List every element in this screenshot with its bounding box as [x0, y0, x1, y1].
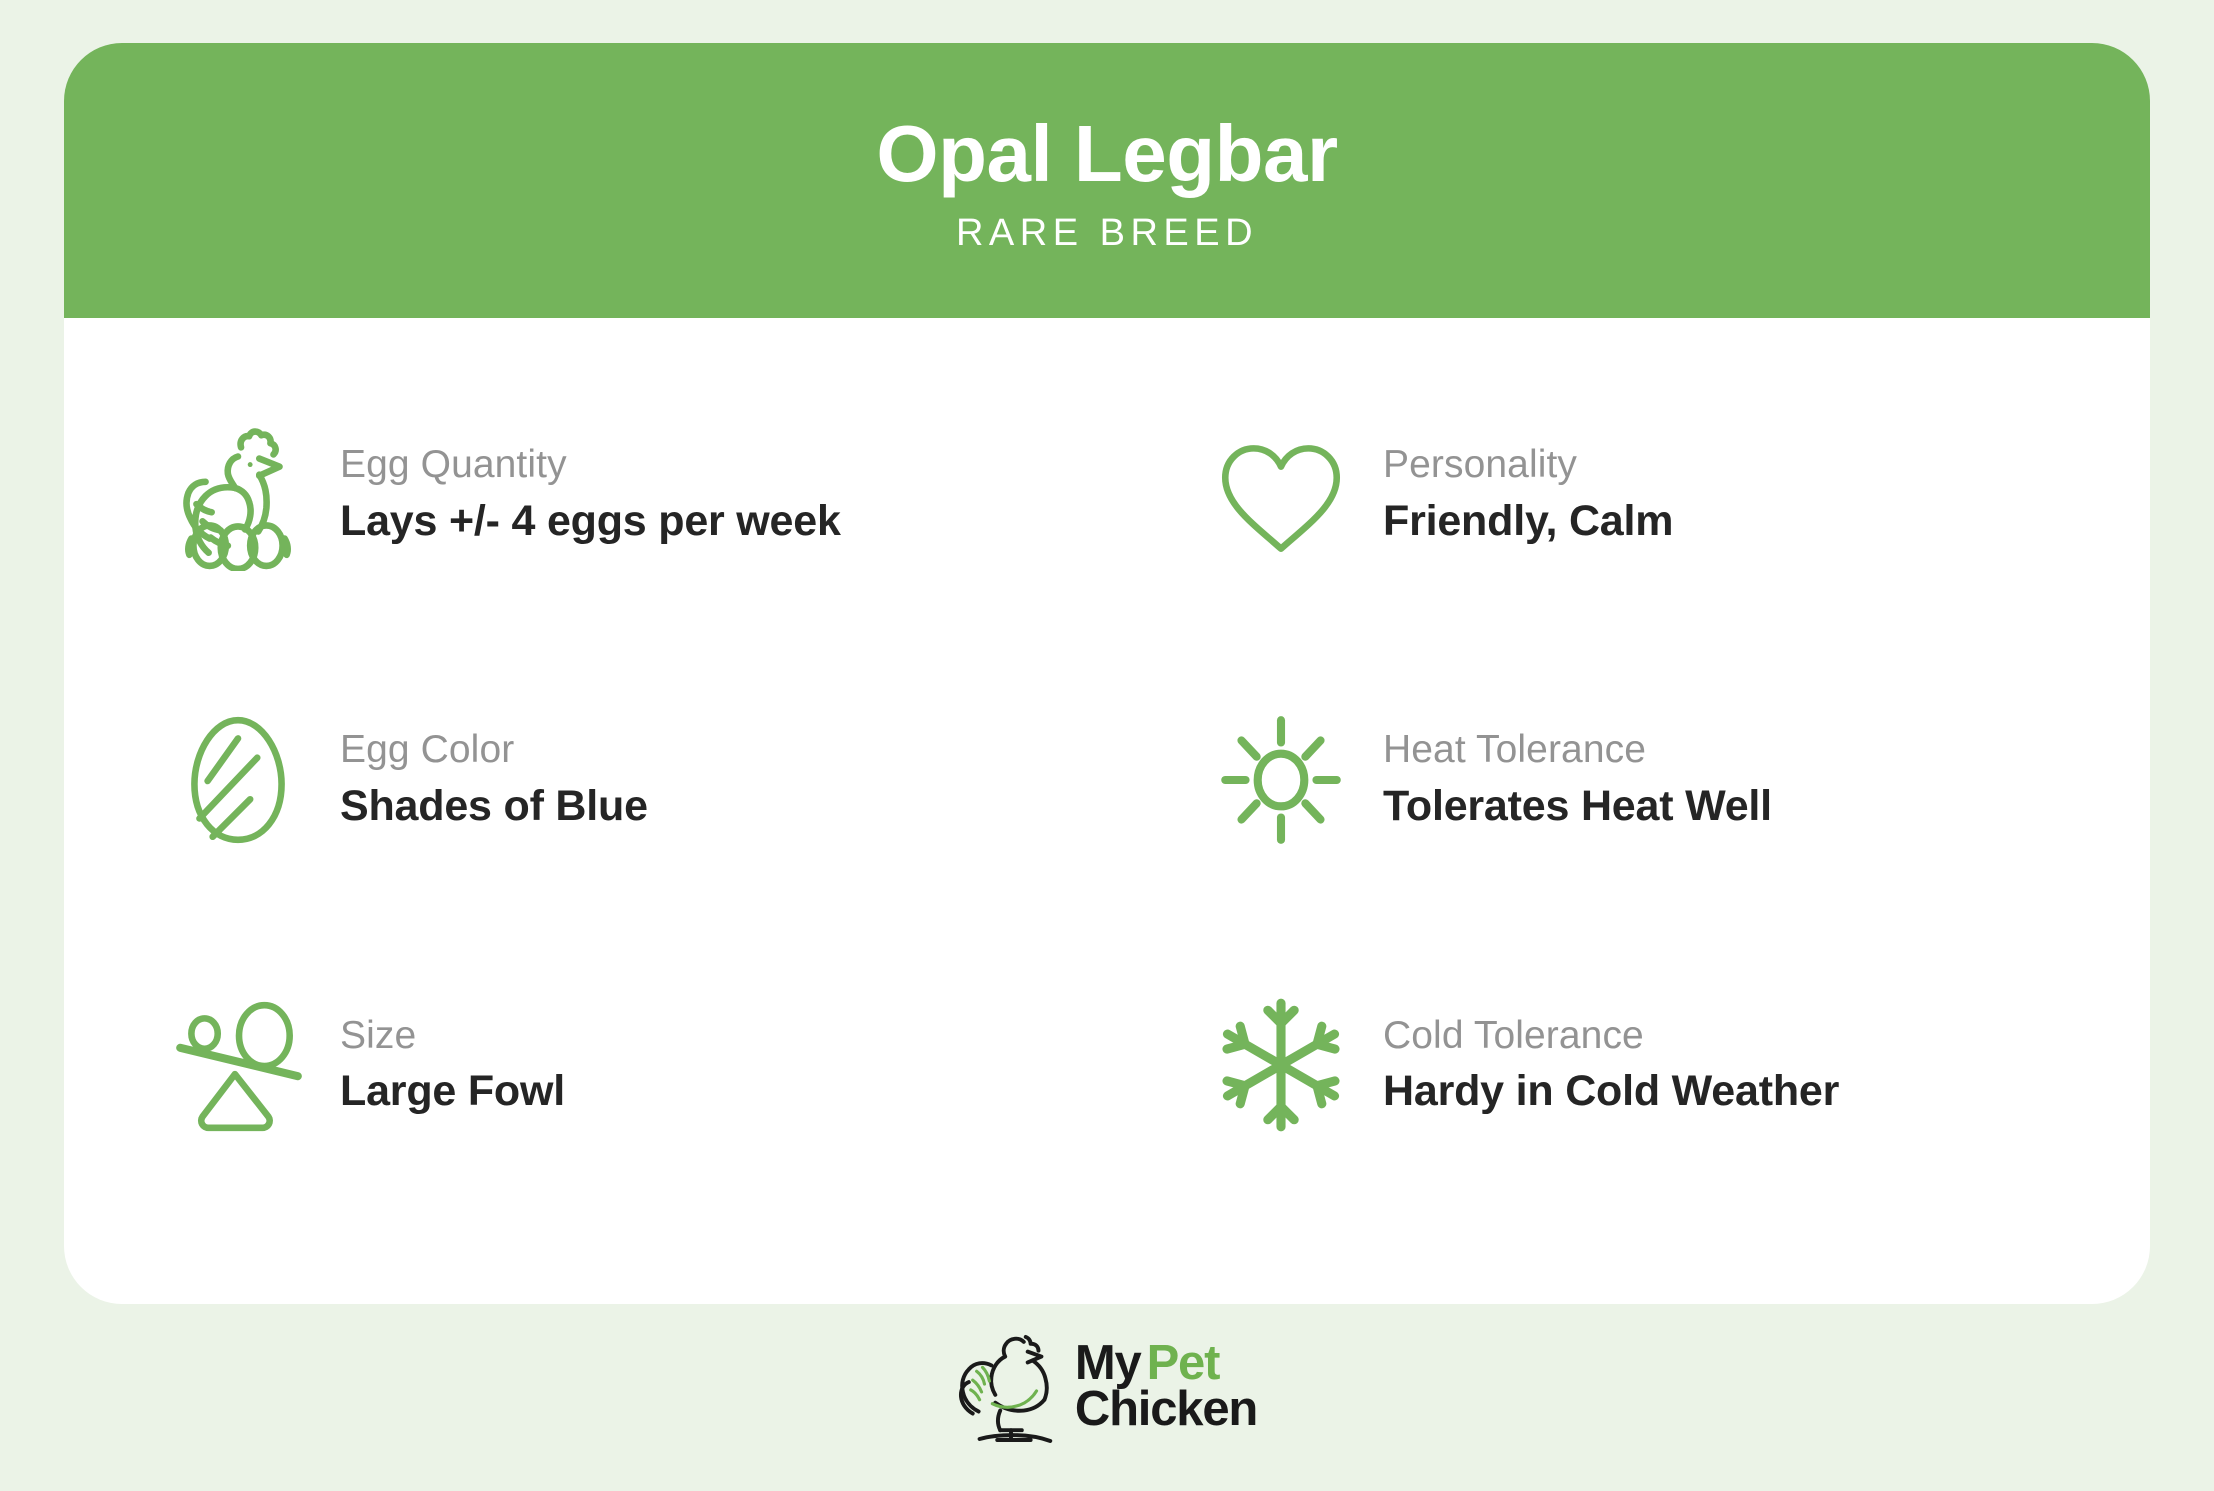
breed-info-card: Opal Legbar RARE BREED: [64, 43, 2150, 1304]
attribute-label: Heat Tolerance: [1383, 726, 1772, 774]
sun-icon: [1201, 700, 1361, 860]
attribute-text: Personality Friendly, Calm: [1383, 441, 1673, 548]
attribute-text: Size Large Fowl: [340, 1012, 565, 1119]
my-pet-chicken-logo: MyPet Chicken: [957, 1328, 1257, 1446]
attribute-heat-tolerance: Heat Tolerance Tolerates Heat Well: [1107, 637, 2150, 922]
attribute-cold-tolerance: Cold Tolerance Hardy in Cold Weather: [1107, 923, 2150, 1208]
attribute-value: Tolerates Heat Well: [1383, 780, 1772, 834]
attribute-value: Friendly, Calm: [1383, 495, 1673, 549]
card-header: Opal Legbar RARE BREED: [64, 43, 2150, 318]
snowflake-icon: [1201, 985, 1361, 1145]
attribute-label: Cold Tolerance: [1383, 1012, 1839, 1060]
attribute-egg-quantity: Egg Quantity Lays +/- 4 eggs per week: [64, 352, 1107, 637]
footer: MyPet Chicken: [0, 1328, 2214, 1446]
breed-rarity-subtitle: RARE BREED: [956, 212, 1258, 255]
attribute-label: Size: [340, 1012, 565, 1060]
attribute-text: Egg Quantity Lays +/- 4 eggs per week: [340, 441, 841, 548]
attribute-value: Lays +/- 4 eggs per week: [340, 495, 841, 549]
attribute-label: Egg Color: [340, 726, 648, 774]
heart-icon: [1201, 415, 1361, 575]
attribute-text: Cold Tolerance Hardy in Cold Weather: [1383, 1012, 1839, 1119]
balance-scale-icon: [158, 985, 318, 1145]
attributes-grid: Egg Quantity Lays +/- 4 eggs per week Pe…: [64, 318, 2150, 1304]
egg-icon: [158, 700, 318, 860]
logo-word-chicken: Chicken: [1075, 1387, 1257, 1433]
attribute-value: Shades of Blue: [340, 780, 648, 834]
logo-wordmark: MyPet Chicken: [1075, 1341, 1257, 1432]
hen-with-eggs-icon: [158, 415, 318, 575]
attribute-size: Size Large Fowl: [64, 923, 1107, 1208]
attribute-value: Large Fowl: [340, 1065, 565, 1119]
hen-logo-icon: [957, 1328, 1065, 1446]
attribute-value: Hardy in Cold Weather: [1383, 1065, 1839, 1119]
attribute-label: Personality: [1383, 441, 1673, 489]
attribute-personality: Personality Friendly, Calm: [1107, 352, 2150, 637]
logo-line-one: MyPet: [1075, 1341, 1257, 1387]
attribute-text: Egg Color Shades of Blue: [340, 726, 648, 833]
attribute-text: Heat Tolerance Tolerates Heat Well: [1383, 726, 1772, 833]
page-title: Opal Legbar: [876, 112, 1337, 196]
infographic-page: Opal Legbar RARE BREED: [0, 0, 2214, 1491]
attribute-label: Egg Quantity: [340, 441, 841, 489]
attribute-egg-color: Egg Color Shades of Blue: [64, 637, 1107, 922]
